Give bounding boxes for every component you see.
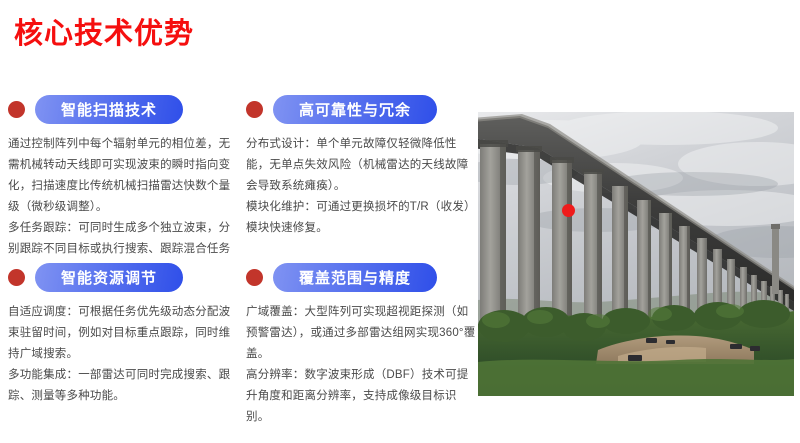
feature-badge-label: 覆盖范围与精度 [273, 263, 437, 292]
feature-badge-row: 高可靠性与冗余 [246, 94, 478, 124]
feature-badge-row: 智能资源调节 [8, 262, 240, 292]
feature-paragraph: 高分辨率：数字波束形成（DBF）技术可提升角度和距离分辨率，支持成像级目标识别。 [246, 365, 478, 428]
feature-block-coverage-accuracy: 覆盖范围与精度 广域覆盖：大型阵列可实现超视距探测（如预警雷达），或通过多部雷达… [246, 262, 478, 428]
feature-paragraph: 通过控制阵列中每个辐射单元的相位差，无需机械转动天线即可实现波束的瞬时指向变化，… [8, 134, 240, 218]
feature-body: 广域覆盖：大型阵列可实现超视距探测（如预警雷达），或通过多部雷达组网实现360°… [246, 302, 478, 428]
feature-block-resource-scheduling: 智能资源调节 自适应调度：可根据任务优先级动态分配波束驻留时间，例如对目标重点跟… [8, 262, 240, 407]
feature-body: 自适应调度：可根据任务优先级动态分配波束驻留时间，例如对目标重点跟踪，同时维持广… [8, 302, 240, 407]
feature-paragraph: 广域覆盖：大型阵列可实现超视距探测（如预警雷达），或通过多部雷达组网实现360°… [246, 302, 478, 365]
bullet-dot-icon [246, 101, 263, 118]
feature-paragraph: 自适应调度：可根据任务优先级动态分配波束驻留时间，例如对目标重点跟踪，同时维持广… [8, 302, 240, 365]
bullet-dot-icon [8, 101, 25, 118]
page-title: 核心技术优势 [14, 16, 194, 52]
feature-badge-label: 智能资源调节 [35, 263, 183, 292]
feature-paragraph: 模块化维护：可通过更换损坏的T/R（收发）模块快速修复。 [246, 197, 478, 239]
feature-badge-label: 高可靠性与冗余 [273, 95, 437, 124]
feature-body: 通过控制阵列中每个辐射单元的相位差，无需机械转动天线即可实现波束的瞬时指向变化，… [8, 134, 240, 260]
feature-badge-row: 智能扫描技术 [8, 94, 240, 124]
photo-location-marker-icon [562, 204, 575, 217]
viaduct-bridge-photo [478, 112, 794, 396]
bullet-dot-icon [8, 269, 25, 286]
feature-paragraph: 多功能集成：一部雷达可同时完成搜索、跟踪、测量等多种功能。 [8, 365, 240, 407]
feature-paragraph: 多任务跟踪：可同时生成多个独立波束，分别跟踪不同目标或执行搜索、跟踪混合任务 [8, 218, 240, 260]
feature-photo [478, 112, 794, 396]
feature-block-smart-scanning: 智能扫描技术 通过控制阵列中每个辐射单元的相位差，无需机械转动天线即可实现波束的… [8, 94, 240, 260]
bullet-dot-icon [246, 269, 263, 286]
feature-badge-label: 智能扫描技术 [35, 95, 183, 124]
feature-badge-row: 覆盖范围与精度 [246, 262, 478, 292]
feature-paragraph: 分布式设计：单个单元故障仅轻微降低性能，无单点失效风险（机械雷达的天线故障会导致… [246, 134, 478, 197]
feature-body: 分布式设计：单个单元故障仅轻微降低性能，无单点失效风险（机械雷达的天线故障会导致… [246, 134, 478, 239]
feature-block-high-reliability: 高可靠性与冗余 分布式设计：单个单元故障仅轻微降低性能，无单点失效风险（机械雷达… [246, 94, 478, 239]
